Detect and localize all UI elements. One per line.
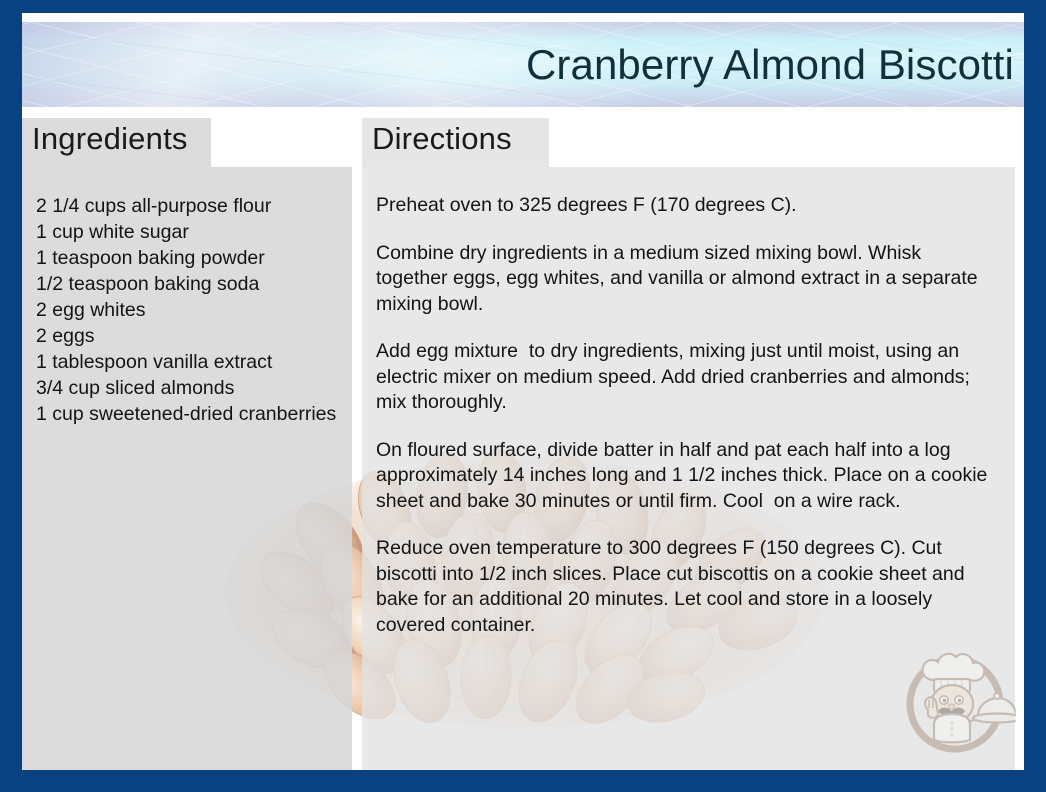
list-item: 1/2 teaspoon baking soda — [36, 271, 338, 297]
page-title: Cranberry Almond Biscotti — [526, 41, 1014, 89]
direction-step: Combine dry ingredients in a medium size… — [376, 241, 995, 318]
list-item: 2 1/4 cups all-purpose flour — [36, 193, 338, 219]
list-item: 2 egg whites — [36, 297, 338, 323]
direction-step: Reduce oven temperature to 300 degrees F… — [376, 536, 995, 638]
list-item: 3/4 cup sliced almonds — [36, 375, 338, 401]
list-item: 1 teaspoon baking powder — [36, 245, 338, 271]
direction-step: On floured surface, divide batter in hal… — [376, 438, 995, 515]
recipe-page: Cranberry Almond Biscotti — [22, 13, 1024, 770]
direction-step: Preheat oven to 325 degrees F (170 degre… — [376, 193, 995, 219]
slide-frame: Cranberry Almond Biscotti — [0, 0, 1046, 792]
ingredients-column: Ingredients 2 1/4 cups all-purpose flour… — [22, 118, 352, 770]
ingredients-panel: 2 1/4 cups all-purpose flour 1 cup white… — [22, 167, 352, 770]
list-item: 2 eggs — [36, 323, 338, 349]
directions-heading: Directions — [372, 121, 512, 157]
list-item: 1 tablespoon vanilla extract — [36, 349, 338, 375]
ingredients-heading: Ingredients — [32, 121, 188, 157]
ingredient-list: 2 1/4 cups all-purpose flour 1 cup white… — [36, 193, 338, 427]
directions-heading-bar: Directions — [362, 118, 1015, 167]
directions-column: Directions Preheat oven to 325 degrees F… — [362, 118, 1015, 770]
title-banner: Cranberry Almond Biscotti — [22, 22, 1024, 107]
direction-step: Add egg mixture to dry ingredients, mixi… — [376, 339, 995, 416]
ingredients-heading-bar: Ingredients — [22, 118, 352, 167]
list-item: 1 cup white sugar — [36, 219, 338, 245]
directions-panel: Preheat oven to 325 degrees F (170 degre… — [362, 167, 1015, 770]
list-item: 1 cup sweetened-dried cranberries — [36, 401, 338, 427]
